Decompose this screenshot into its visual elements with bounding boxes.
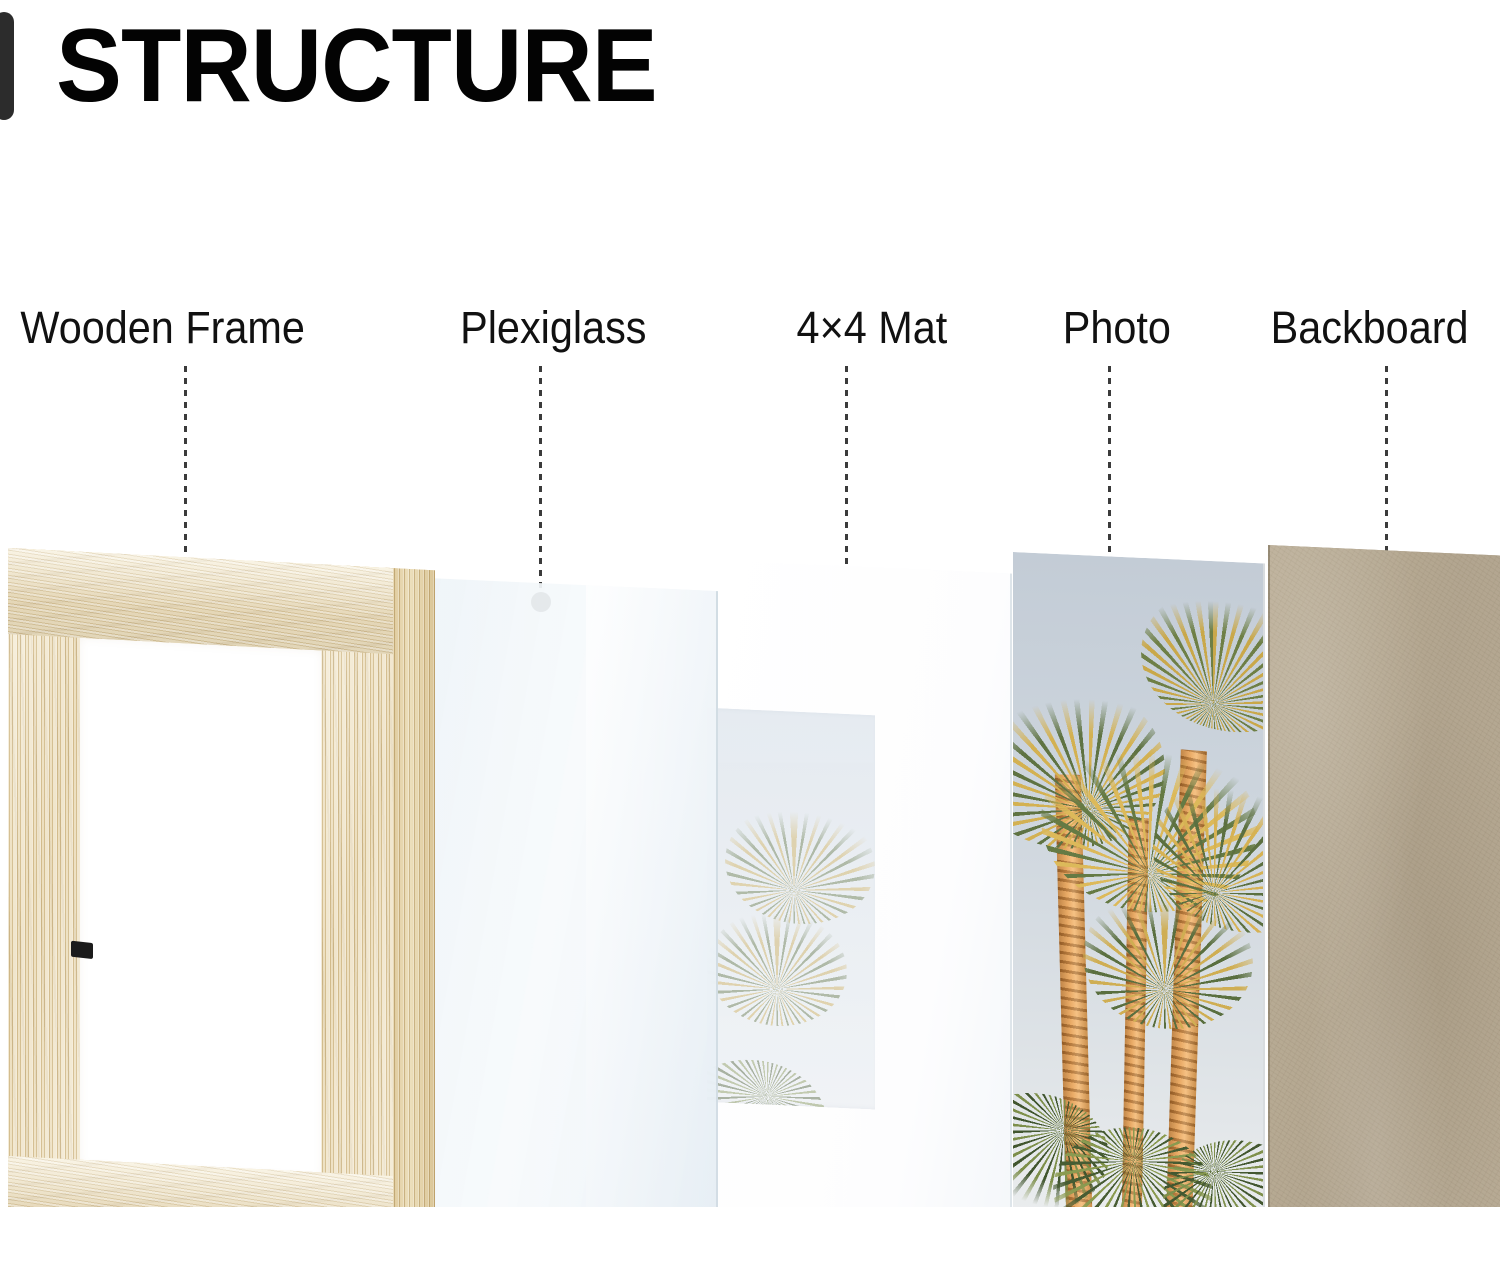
frame-inner-opening bbox=[74, 631, 328, 1184]
frame-hanger-clip bbox=[71, 941, 93, 959]
frame-side-face bbox=[393, 568, 435, 1267]
plexiglass-panel bbox=[428, 578, 718, 1259]
part-photo bbox=[1013, 552, 1265, 1242]
label-backboard: Backboard bbox=[1271, 303, 1469, 353]
page-title: STRUCTURE bbox=[0, 8, 688, 123]
part-mat bbox=[712, 560, 1012, 1242]
bottom-trim-mask bbox=[0, 1207, 1500, 1267]
structure-infographic: STRUCTURE Wooden Frame Plexiglass 4×4 Ma… bbox=[0, 0, 1500, 1267]
frame-rail-right bbox=[321, 564, 393, 1267]
label-wooden-frame: Wooden Frame bbox=[20, 303, 305, 353]
part-backboard bbox=[1268, 545, 1500, 1245]
mat-window-opening bbox=[707, 708, 875, 1110]
mat-window-photo-glimpse bbox=[707, 708, 875, 1110]
label-plexiglass: Plexiglass bbox=[460, 303, 646, 353]
part-plexiglass bbox=[428, 578, 718, 1246]
title-accent-bar bbox=[0, 12, 14, 120]
title-text: STRUCTURE bbox=[56, 14, 657, 118]
mat-panel bbox=[712, 560, 1012, 1256]
wooden-frame-body bbox=[8, 548, 428, 1267]
label-photo: Photo bbox=[1063, 303, 1171, 353]
backboard-panel bbox=[1268, 545, 1500, 1256]
part-wooden-frame bbox=[8, 548, 428, 1248]
leader-line-plexiglass bbox=[539, 366, 542, 598]
frame-rail-left bbox=[8, 548, 80, 1252]
label-mat: 4×4 Mat bbox=[797, 303, 948, 353]
photo-panel bbox=[1013, 552, 1265, 1253]
